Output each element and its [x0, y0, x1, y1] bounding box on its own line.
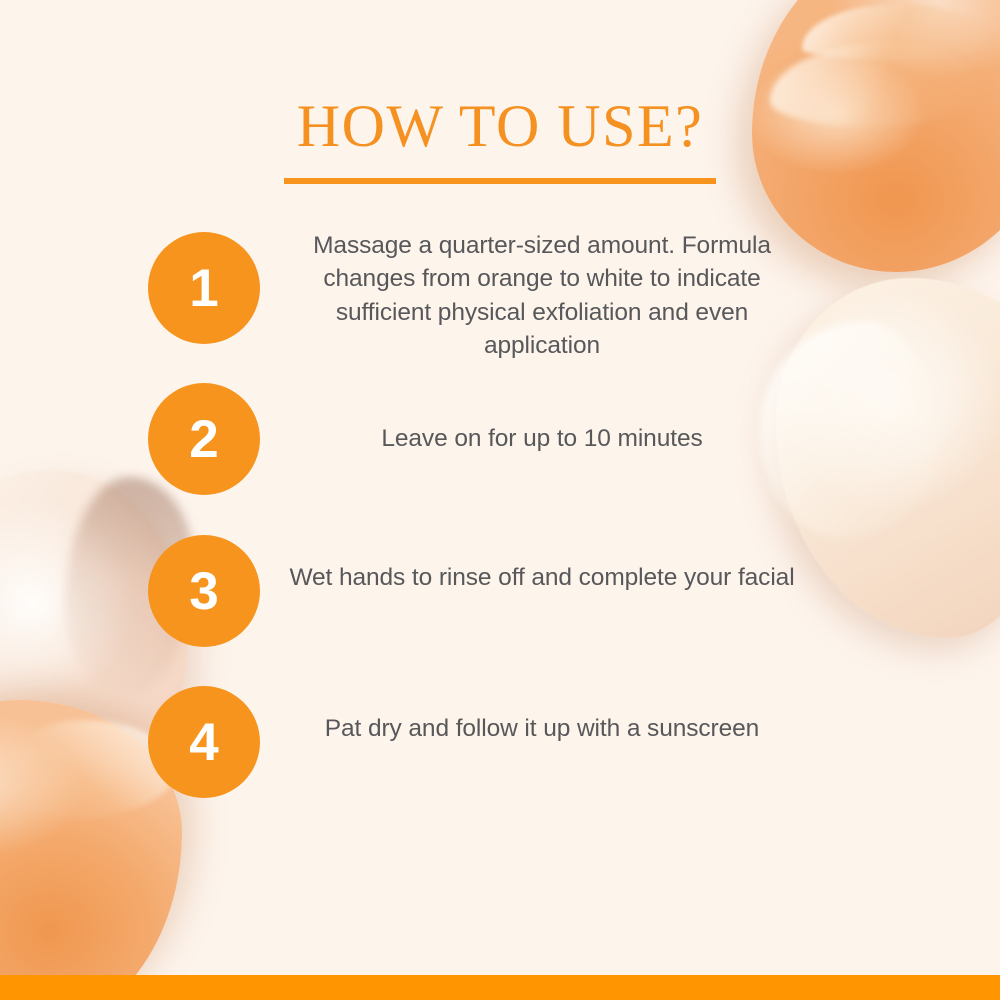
step-text-1: Massage a quarter-sized amount. Formula …: [282, 229, 802, 362]
step-badge-3: 3: [148, 535, 260, 647]
step-number-2: 2: [189, 413, 218, 466]
how-to-use-poster: HOW TO USE? 1 Massage a quarter-sized am…: [0, 0, 1000, 1000]
step-text-2: Leave on for up to 10 minutes: [282, 422, 802, 455]
orange-scrub-highlight-top-right: [802, 4, 992, 60]
step-text-3: Wet hands to rinse off and complete your…: [282, 561, 802, 594]
step-badge-1: 1: [148, 232, 260, 344]
step-text-4: Pat dry and follow it up with a sunscree…: [282, 712, 802, 745]
step-badge-4: 4: [148, 686, 260, 798]
page-title: HOW TO USE?: [0, 96, 1000, 156]
bottom-accent-bar: [0, 975, 1000, 1000]
step-badge-2: 2: [148, 383, 260, 495]
heading-block: HOW TO USE?: [0, 96, 1000, 184]
title-underline-divider: [284, 178, 716, 184]
step-number-4: 4: [189, 716, 218, 769]
cream-swatch-right: [776, 278, 1000, 638]
step-number-3: 3: [189, 565, 218, 618]
step-number-1: 1: [189, 262, 218, 315]
